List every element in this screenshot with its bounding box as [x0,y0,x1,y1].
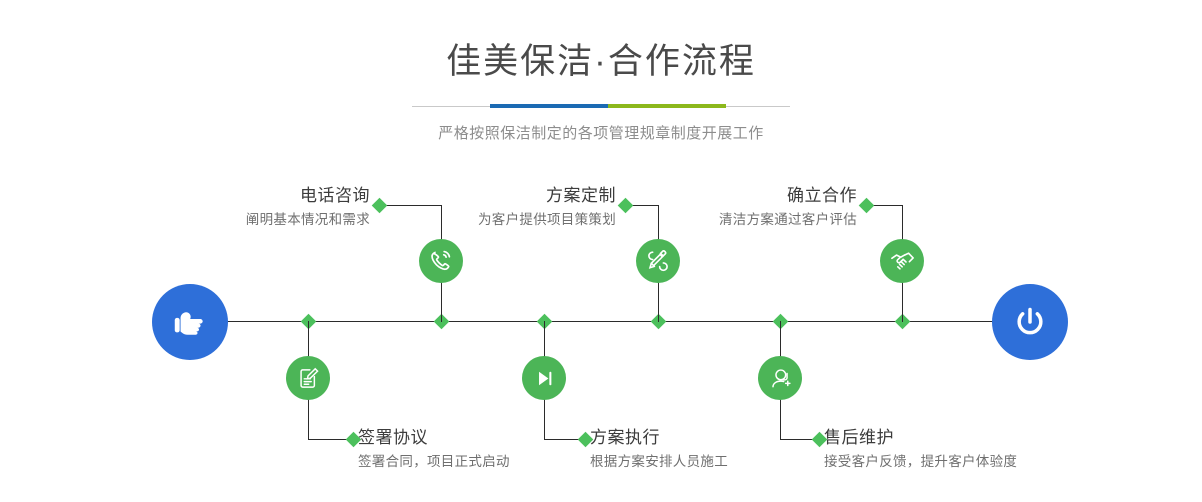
step-desc: 签署合同，项目正式启动 [358,452,618,471]
step-icon-5 [880,239,924,283]
document-sign-icon [296,366,321,391]
label-marker-5 [859,198,875,214]
step-title: 确立合作 [607,186,857,206]
play-execute-icon [532,366,557,391]
power-icon [1010,302,1050,342]
process-flow-infographic: 佳美保洁·合作流程 严格按照保洁制定的各项管理规章制度开展工作 [0,0,1202,502]
divider-segment-blue [490,104,608,108]
title-divider [412,101,790,113]
start-node [152,284,228,360]
step-desc: 接受客户反馈，提升客户体验度 [824,452,1104,471]
step-desc: 根据方案安排人员施工 [590,452,850,471]
step-label-5: 确立合作 清洁方案通过客户评估 [607,186,857,229]
pointing-hand-icon [169,301,211,343]
step-desc: 阐明基本情况和需求 [120,210,370,229]
step-icon-3 [636,239,680,283]
step-label-6: 售后维护 接受客户反馈，提升客户体验度 [824,428,1104,471]
customer-service-add-icon [768,366,793,391]
phone-call-icon [428,248,454,274]
handshake-icon [889,248,916,275]
divider-segment-green [608,104,726,108]
step-icon-1 [419,239,463,283]
step-icon-4 [522,356,566,400]
page-subtitle: 严格按照保洁制定的各项管理规章制度开展工作 [0,122,1202,143]
step-title: 电话咨询 [120,186,370,206]
step-label-3: 方案定制 为客户提供项目策策划 [366,186,616,229]
step-title: 方案定制 [366,186,616,206]
step-icon-6 [758,356,802,400]
step-desc: 清洁方案通过客户评估 [607,210,857,229]
step-desc: 为客户提供项目策策划 [366,210,616,229]
step-title: 方案执行 [590,428,850,448]
header: 佳美保洁·合作流程 严格按照保洁制定的各项管理规章制度开展工作 [0,0,1202,143]
step-label-1: 电话咨询 阐明基本情况和需求 [120,186,370,229]
end-node [992,284,1068,360]
pencil-ruler-icon [645,248,671,274]
step-title: 售后维护 [824,428,1104,448]
step-label-4: 方案执行 根据方案安排人员施工 [590,428,850,471]
page-title: 佳美保洁·合作流程 [0,44,1202,79]
step-icon-2 [286,356,330,400]
step-label-2: 签署协议 签署合同，项目正式启动 [358,428,618,471]
